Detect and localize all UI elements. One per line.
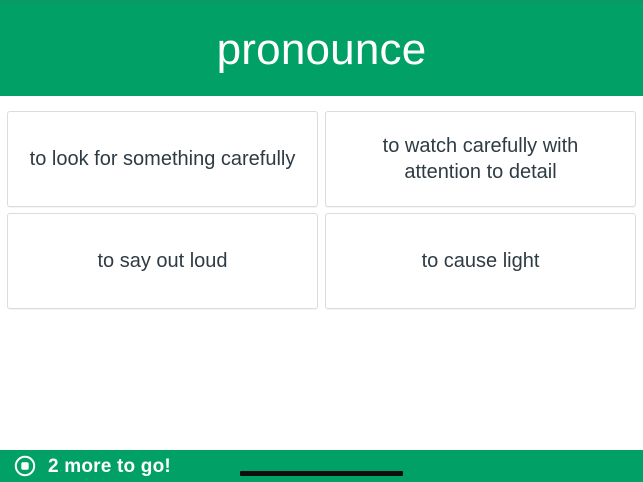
answer-option-2[interactable]: to watch carefully with attention to det… <box>325 111 636 207</box>
quiz-screen: pronounce to look for something carefull… <box>0 0 643 482</box>
content-empty-area <box>0 320 643 450</box>
progress-indicator-bar <box>240 471 403 476</box>
answer-option-label: to watch carefully with attention to det… <box>344 133 617 186</box>
answer-options-grid: to look for something carefully to watch… <box>7 111 636 309</box>
remaining-count-label: 2 more to go! <box>48 457 171 476</box>
answer-option-3[interactable]: to say out loud <box>7 213 318 309</box>
stop-circle-icon[interactable] <box>14 455 36 477</box>
answer-option-label: to cause light <box>422 248 540 274</box>
answer-option-1[interactable]: to look for something carefully <box>7 111 318 207</box>
answer-option-label: to look for something carefully <box>30 146 296 172</box>
answer-option-4[interactable]: to cause light <box>325 213 636 309</box>
answer-option-label: to say out loud <box>97 248 227 274</box>
quiz-header: pronounce <box>0 0 643 96</box>
page-title: pronounce <box>217 28 427 72</box>
progress-status-bar: 2 more to go! <box>0 450 643 482</box>
